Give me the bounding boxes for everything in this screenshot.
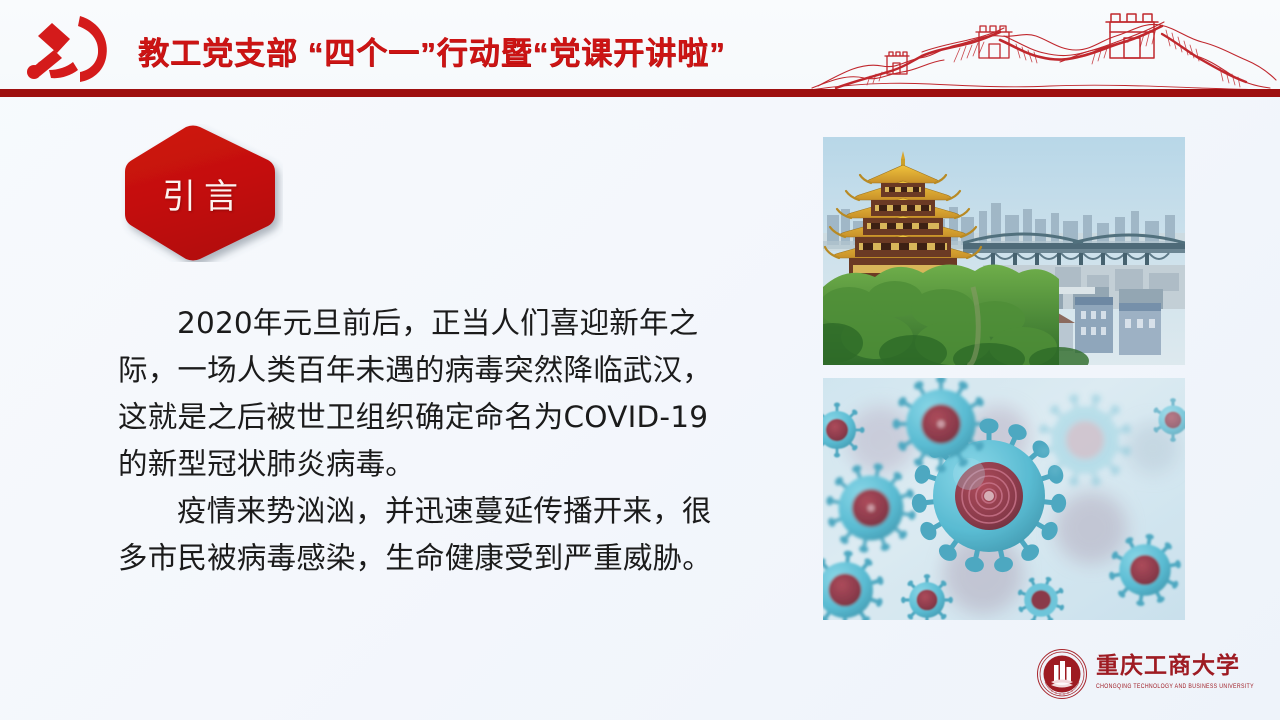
page-title: 教工党支部 “四个一”行动暨“党课开讲啦” <box>138 38 726 69</box>
university-seal-icon <box>1036 648 1088 700</box>
section-badge: 引言 <box>117 124 283 262</box>
intro-paragraph-2: 疫情来势汹汹，并迅速蔓延传播开来，很多市民被病毒感染，生命健康受到严重威胁。 <box>118 488 730 582</box>
university-logo: 重庆工商大学 CHONGQING TECHNOLOGY AND BUSINESS… <box>1036 648 1236 704</box>
intro-text-block: 2020年元旦前后，正当人们喜迎新年之际，一场人类百年未遇的病毒突然降临武汉，这… <box>118 300 730 582</box>
coronavirus-photo <box>823 378 1185 620</box>
header-divider <box>0 89 1280 97</box>
university-name-block: 重庆工商大学 CHONGQING TECHNOLOGY AND BUSINESS… <box>1096 652 1236 689</box>
great-wall-illustration-icon <box>810 0 1280 92</box>
slide-header: 教工党支部 “四个一”行动暨“党课开讲啦” <box>0 0 1280 97</box>
university-name-en: CHONGQING TECHNOLOGY AND BUSINESS UNIVER… <box>1096 683 1236 691</box>
university-name-cn: 重庆工商大学 <box>1096 652 1236 680</box>
intro-paragraph-1: 2020年元旦前后，正当人们喜迎新年之际，一场人类百年未遇的病毒突然降临武汉，这… <box>118 300 730 488</box>
yellow-crane-tower-photo <box>823 137 1185 365</box>
section-badge-label: 引言 <box>117 124 283 262</box>
cpc-emblem-icon <box>18 10 122 88</box>
